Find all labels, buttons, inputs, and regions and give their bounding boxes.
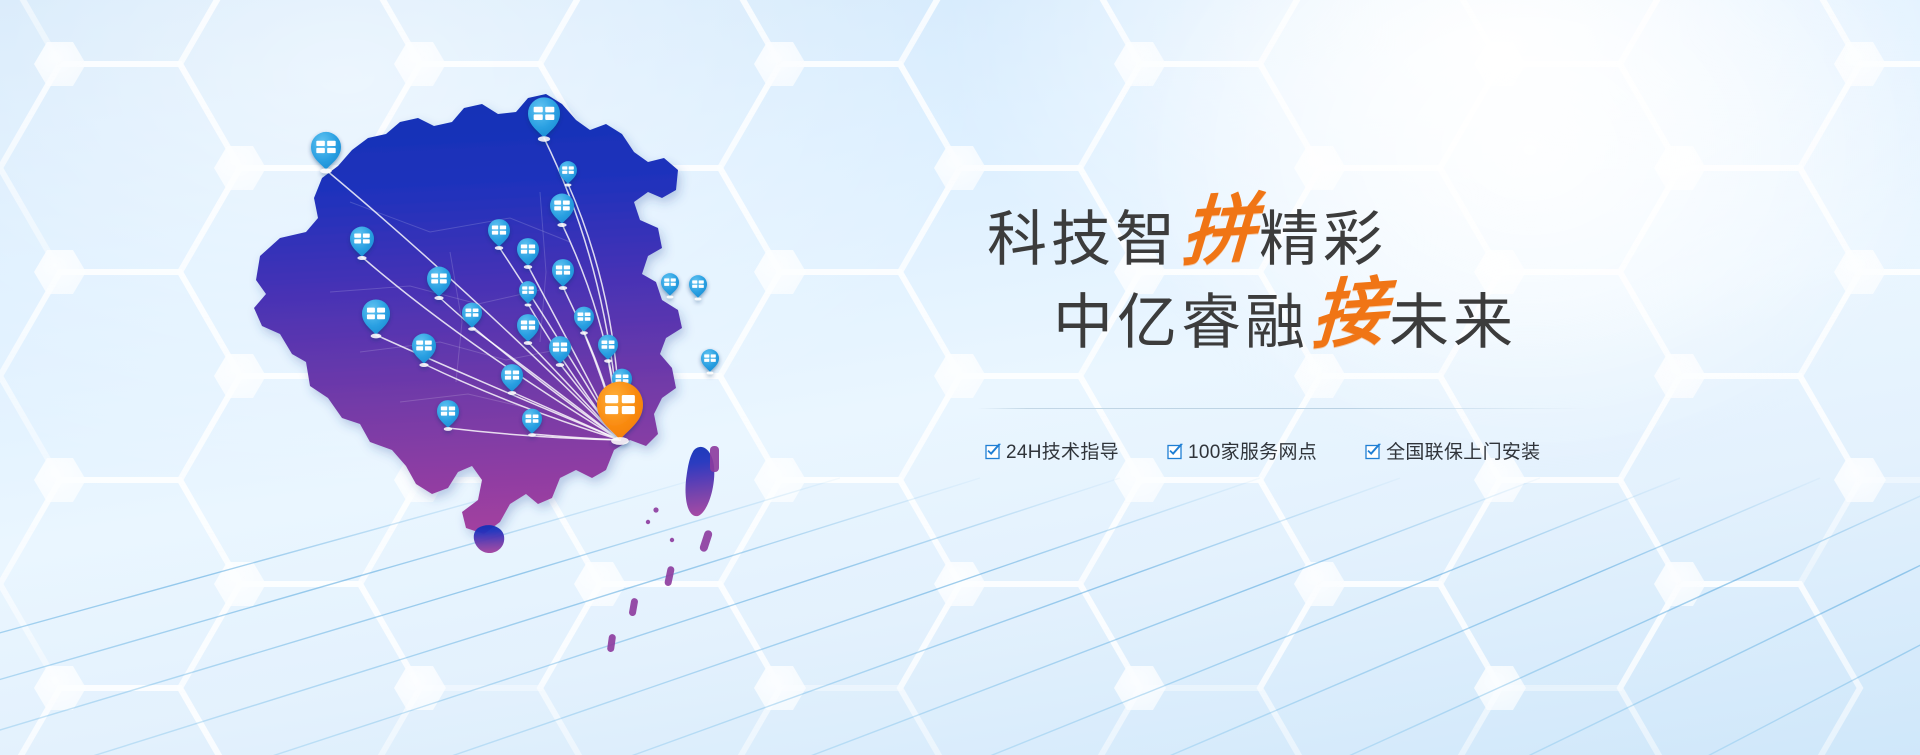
- feature-label: 100家服务网点: [1188, 437, 1317, 464]
- checkbox-checked-icon: [1365, 443, 1382, 460]
- pin-offshore-2[interactable]: [689, 275, 707, 300]
- feature-list: 24H技术指导100家服务网点全国联保上门安装: [985, 437, 1540, 464]
- headline-line-2: 中亿睿融接未来: [1053, 279, 1635, 362]
- headline-line-1: 科技智拼精彩: [987, 196, 1635, 279]
- pin-offshore-1[interactable]: [661, 273, 679, 298]
- headline-divider: [978, 408, 1588, 409]
- headline-line2-prefix: 中亿睿融: [1053, 289, 1309, 356]
- hainan-island: [474, 525, 504, 553]
- feature-label: 全国联保上门安装: [1386, 437, 1540, 464]
- feature-item: 24H技术指导: [985, 437, 1119, 464]
- china-service-network-map: [210, 42, 830, 602]
- feature-item: 全国联保上门安装: [1365, 437, 1540, 464]
- taiwan-island: [686, 447, 715, 516]
- pin-offshore-3[interactable]: [701, 349, 719, 374]
- promotional-banner: 科技智拼精彩 中亿睿融接未来 24H技术指导100家服务网点全国联保上门安装: [0, 0, 1920, 755]
- checkbox-checked-icon: [1167, 443, 1184, 460]
- headline-line1-prefix: 科技智: [987, 206, 1179, 273]
- headline-line2-suffix: 未来: [1389, 289, 1517, 356]
- headline-line1-accent-char: 拼: [1177, 189, 1261, 273]
- feature-item: 100家服务网点: [1167, 437, 1317, 464]
- headline-line2-accent-char: 接: [1307, 272, 1391, 356]
- feature-label: 24H技术指导: [1006, 437, 1119, 464]
- headline-block: 科技智拼精彩 中亿睿融接未来: [975, 196, 1635, 362]
- checkbox-checked-icon: [985, 443, 1002, 460]
- headline-line1-suffix: 精彩: [1259, 206, 1387, 273]
